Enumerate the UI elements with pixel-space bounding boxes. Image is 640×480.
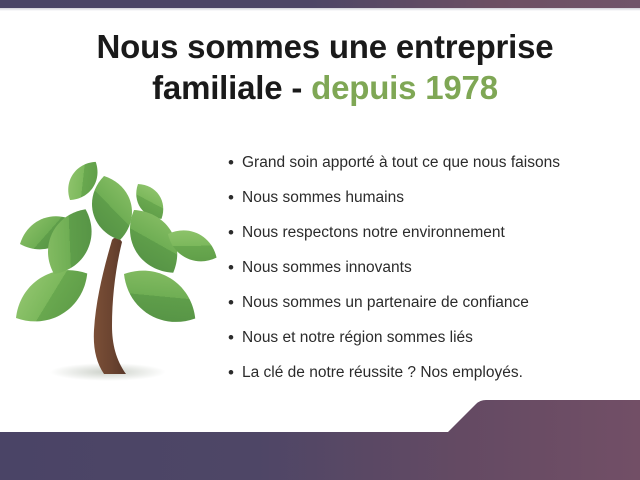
title-line-2: familiale - depuis 1978 (40, 67, 610, 108)
footer-banner-shape (0, 396, 640, 480)
bullet-dot-icon: • (228, 222, 242, 244)
top-accent-bar-shadow (0, 8, 640, 11)
footer-banner: tabor-automobiles.fr (0, 396, 640, 480)
bullet-dot-icon: • (228, 152, 242, 174)
value-bullet-list: • Grand soin apporté à tout ce que nous … (228, 152, 628, 397)
title-line-2-accent: depuis 1978 (311, 69, 498, 106)
page-title: Nous sommes une entreprise familiale - d… (40, 26, 610, 108)
title-line-2-black: familiale - (152, 69, 311, 106)
tree-illustration (8, 148, 223, 393)
tree-icon (8, 148, 223, 393)
list-item-label: Nous sommes un partenaire de confiance (242, 292, 529, 314)
list-item-label: Nous respectons notre environnement (242, 222, 505, 244)
list-item: • Nous et notre région sommes liés (228, 327, 628, 362)
bullet-dot-icon: • (228, 327, 242, 349)
footer-banner-fill (0, 400, 640, 480)
list-item: • Nous sommes humains (228, 187, 628, 222)
list-item-label: Nous sommes humains (242, 187, 404, 209)
bullet-dot-icon: • (228, 257, 242, 279)
bullet-dot-icon: • (228, 292, 242, 314)
list-item: • Grand soin apporté à tout ce que nous … (228, 152, 628, 187)
tree-trunk (94, 238, 126, 374)
list-item-label: La clé de notre réussite ? Nos employés. (242, 362, 523, 384)
top-accent-bar (0, 0, 640, 8)
list-item: • Nous respectons notre environnement (228, 222, 628, 257)
slide-canvas: Nous sommes une entreprise familiale - d… (0, 0, 640, 480)
list-item: • La clé de notre réussite ? Nos employé… (228, 362, 628, 397)
list-item: • Nous sommes un partenaire de confiance (228, 292, 628, 327)
list-item-label: Nous et notre région sommes liés (242, 327, 473, 349)
list-item: • Nous sommes innovants (228, 257, 628, 292)
list-item-label: Grand soin apporté à tout ce que nous fa… (242, 152, 560, 174)
bullet-dot-icon: • (228, 362, 242, 384)
title-line-1: Nous sommes une entreprise (40, 26, 610, 67)
bullet-dot-icon: • (228, 187, 242, 209)
list-item-label: Nous sommes innovants (242, 257, 412, 279)
